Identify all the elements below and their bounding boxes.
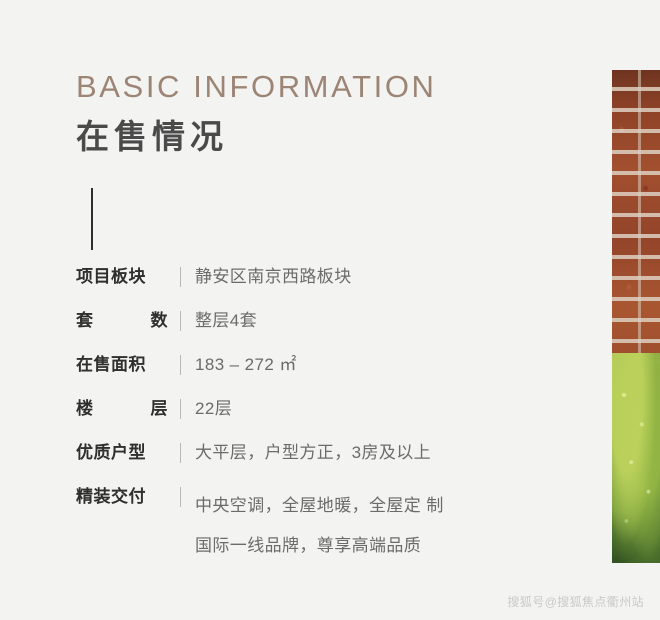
info-separator-bar (180, 399, 181, 419)
info-list: 项目板块 静安区南京西路板块 套数 整层4套 在售面积 183 – 272 ㎡ … (76, 266, 596, 566)
info-label: 精装交付 (76, 486, 168, 508)
watermark: 搜狐号@搜狐焦点衢州站 (507, 593, 644, 610)
info-separator-bar (180, 443, 181, 463)
page-title-english: BASIC INFORMATION (76, 70, 596, 104)
info-value: 22层 (195, 398, 596, 420)
info-value: 大平层，户型方正，3房及以上 (195, 442, 596, 464)
page-title-chinese: 在售情况 (76, 118, 596, 156)
info-value: 整层4套 (195, 310, 596, 332)
info-label: 套数 (76, 310, 168, 332)
info-row: 楼层 22层 (76, 398, 596, 420)
info-row: 在售面积 183 – 272 ㎡ (76, 354, 596, 376)
info-label: 项目板块 (76, 266, 168, 288)
vertical-rule-divider (91, 188, 93, 250)
info-row: 精装交付 中央空调，全屋地暖，全屋定 制 国际一线品牌，尊享高端品质 (76, 486, 596, 566)
info-row: 项目板块 静安区南京西路板块 (76, 266, 596, 288)
info-row: 优质户型 大平层，户型方正，3房及以上 (76, 442, 596, 464)
header-block: BASIC INFORMATION 在售情况 (76, 70, 596, 156)
info-separator-bar (180, 355, 181, 375)
info-label: 楼层 (76, 398, 168, 420)
info-row: 套数 整层4套 (76, 310, 596, 332)
brick-wall-with-shrub-photo (612, 70, 660, 563)
info-separator-bar (180, 487, 181, 507)
info-separator-bar (180, 311, 181, 331)
info-value: 183 – 272 ㎡ (195, 354, 596, 376)
info-value: 静安区南京西路板块 (195, 266, 596, 288)
foliage-highlight-specks (612, 353, 660, 563)
info-separator-bar (180, 267, 181, 287)
shrub-foliage (612, 353, 660, 563)
poster-page: BASIC INFORMATION 在售情况 项目板块 静安区南京西路板块 套数… (0, 0, 660, 620)
info-value: 中央空调，全屋地暖，全屋定 制 国际一线品牌，尊享高端品质 (195, 486, 596, 566)
info-label: 优质户型 (76, 442, 168, 464)
info-label: 在售面积 (76, 354, 168, 376)
